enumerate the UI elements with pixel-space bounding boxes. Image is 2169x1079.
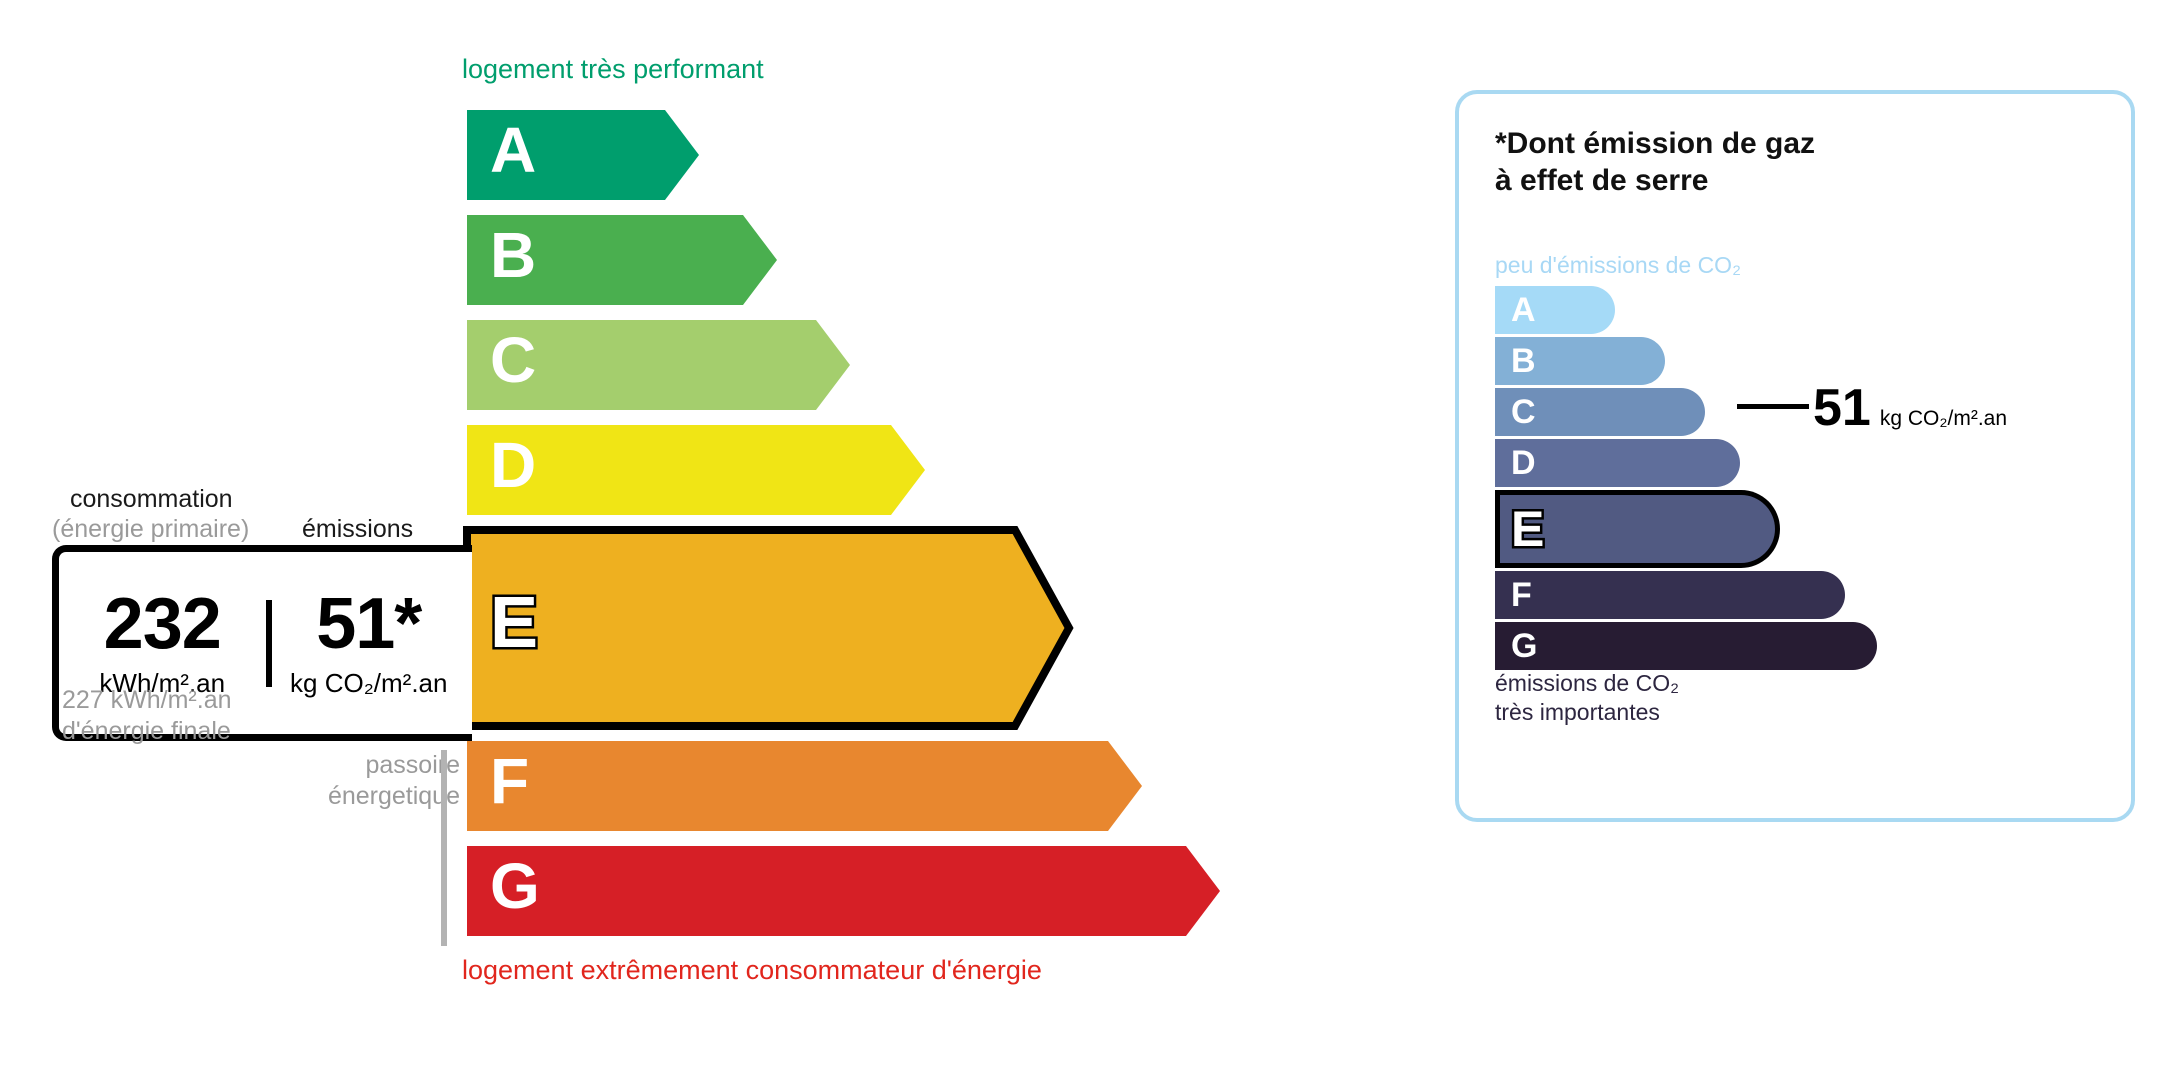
passoire-bracket-bar xyxy=(441,750,447,946)
final-energy-line-2: d'énergie finale xyxy=(62,716,232,747)
co2-emission-value: 51* xyxy=(266,588,473,660)
ges-band-letter-e: E xyxy=(1511,504,1544,554)
ges-band-a: A xyxy=(1495,286,2055,334)
energy-band-g: G xyxy=(462,841,1262,931)
ges-band-letter-g: G xyxy=(1511,629,1537,663)
energy-band-letter-f: F xyxy=(490,749,529,813)
energy-band-letter-a: A xyxy=(490,118,536,182)
energy-band-list: ABCDEFG xyxy=(462,105,1262,946)
ges-co2-panel: *Dont émission de gaz à effet de serre p… xyxy=(1455,90,2135,822)
final-energy-line-1: 227 kWh/m².an xyxy=(62,685,232,716)
ges-band-g: G xyxy=(1495,622,2055,670)
ges-band-list: ABCDEFG xyxy=(1495,286,2055,673)
ges-band-letter-f: F xyxy=(1511,578,1532,612)
ges-bottom-caption: émissions de CO₂ très importantes xyxy=(1495,669,1679,727)
energy-band-shape-f xyxy=(462,736,1149,838)
energy-band-c: C xyxy=(462,315,1262,405)
co2-emission-unit: kg CO₂/m².an xyxy=(266,668,473,699)
primary-energy-value: 232 xyxy=(59,588,266,660)
ges-value-callout: 51 kg CO₂/m².an xyxy=(1737,382,2007,434)
ges-callout-value: 51 xyxy=(1813,382,1871,434)
ges-band-f: F xyxy=(1495,571,2055,619)
ges-band-d: D xyxy=(1495,439,2055,487)
energy-band-f: F xyxy=(462,736,1262,826)
final-energy-note: 227 kWh/m².an d'énergie finale xyxy=(62,685,232,748)
ges-band-letter-d: D xyxy=(1511,446,1536,480)
ges-band-bar-f xyxy=(1495,571,1845,619)
energy-band-shape-e xyxy=(462,525,1076,733)
energy-band-d: D xyxy=(462,420,1262,510)
energy-band-letter-e: E xyxy=(490,587,538,659)
energy-top-caption: logement très performant xyxy=(462,54,764,85)
ges-band-letter-b: B xyxy=(1511,344,1536,378)
energy-band-shape-g xyxy=(462,841,1227,943)
energy-band-letter-c: C xyxy=(490,328,536,392)
co2-emission-cell: 51* kg CO₂/m².an xyxy=(266,588,473,699)
energy-band-letter-d: D xyxy=(490,433,536,497)
ges-band-e: E xyxy=(1495,490,2055,568)
energy-bottom-caption: logement extrêmement consommateur d'éner… xyxy=(462,955,1042,986)
passoire-line-2: énergetique xyxy=(285,781,460,812)
callout-leader-line xyxy=(1737,404,1809,409)
energy-band-letter-g: G xyxy=(490,854,540,918)
ges-top-caption: peu d'émissions de CO₂ xyxy=(1495,252,1741,279)
label-energie-primaire: (énergie primaire) xyxy=(52,515,249,544)
passoire-line-1: passoire xyxy=(285,750,460,781)
passoire-energetique-label: passoire énergetique xyxy=(285,750,460,813)
primary-energy-cell: 232 kWh/m².an xyxy=(59,588,266,699)
energy-band-e: E xyxy=(462,525,1262,721)
label-consommation: consommation xyxy=(70,485,233,514)
ges-band-bar-g xyxy=(1495,622,1877,670)
energy-band-b: B xyxy=(462,210,1262,300)
ges-band-letter-c: C xyxy=(1511,395,1536,429)
value-box-labels: consommation (énergie primaire) émission… xyxy=(52,485,472,545)
ges-band-b: B xyxy=(1495,337,2055,385)
energy-band-letter-b: B xyxy=(490,223,536,287)
energy-performance-diagram: logement très performant ABCDEFG logemen… xyxy=(0,0,1400,1079)
label-emissions: émissions xyxy=(302,515,413,544)
energy-band-a: A xyxy=(462,105,1262,195)
ges-band-letter-a: A xyxy=(1511,293,1536,327)
ges-callout-unit: kg CO₂/m².an xyxy=(1880,407,2007,431)
consumption-value-box-wrapper: consommation (énergie primaire) émission… xyxy=(52,485,472,741)
ges-panel-title: *Dont émission de gaz à effet de serre xyxy=(1495,126,1815,199)
